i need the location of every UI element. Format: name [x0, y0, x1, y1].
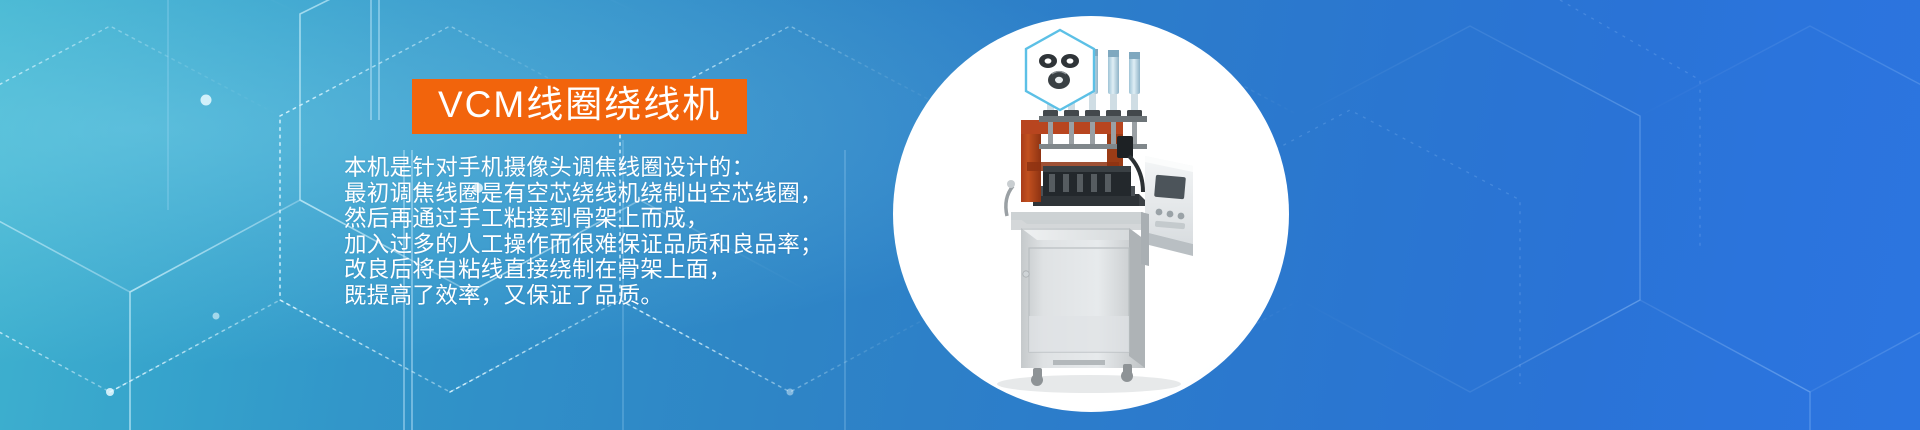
promo-banner: VCM线圈绕线机 本机是针对手机摄像头调焦线圈设计的： 最初调焦线圈是有空芯绕线… — [0, 0, 1920, 430]
description-line-5: 改良后将自粘线直接绕制在骨架上面， — [344, 257, 823, 283]
description-line-3: 然后再通过手工粘接到骨架上而成， — [344, 206, 823, 232]
description-line-1: 本机是针对手机摄像头调焦线圈设计的： — [344, 155, 823, 181]
description-line-6: 既提高了效率，又保证了品质。 — [344, 283, 823, 309]
title-badge: VCM线圈绕线机 — [412, 79, 747, 134]
description-line-4: 加入过多的人工操作而很难保证品质和良品率； — [344, 232, 823, 258]
coil-sample-badge — [1022, 28, 1098, 112]
description-block: 本机是针对手机摄像头调焦线圈设计的： 最初调焦线圈是有空芯绕线机绕制出空芯线圈，… — [344, 155, 823, 309]
description-line-2: 最初调焦线圈是有空芯绕线机绕制出空芯线圈， — [344, 181, 823, 207]
hexagon-outline — [1026, 30, 1094, 110]
page-title: VCM线圈绕线机 — [438, 86, 721, 123]
